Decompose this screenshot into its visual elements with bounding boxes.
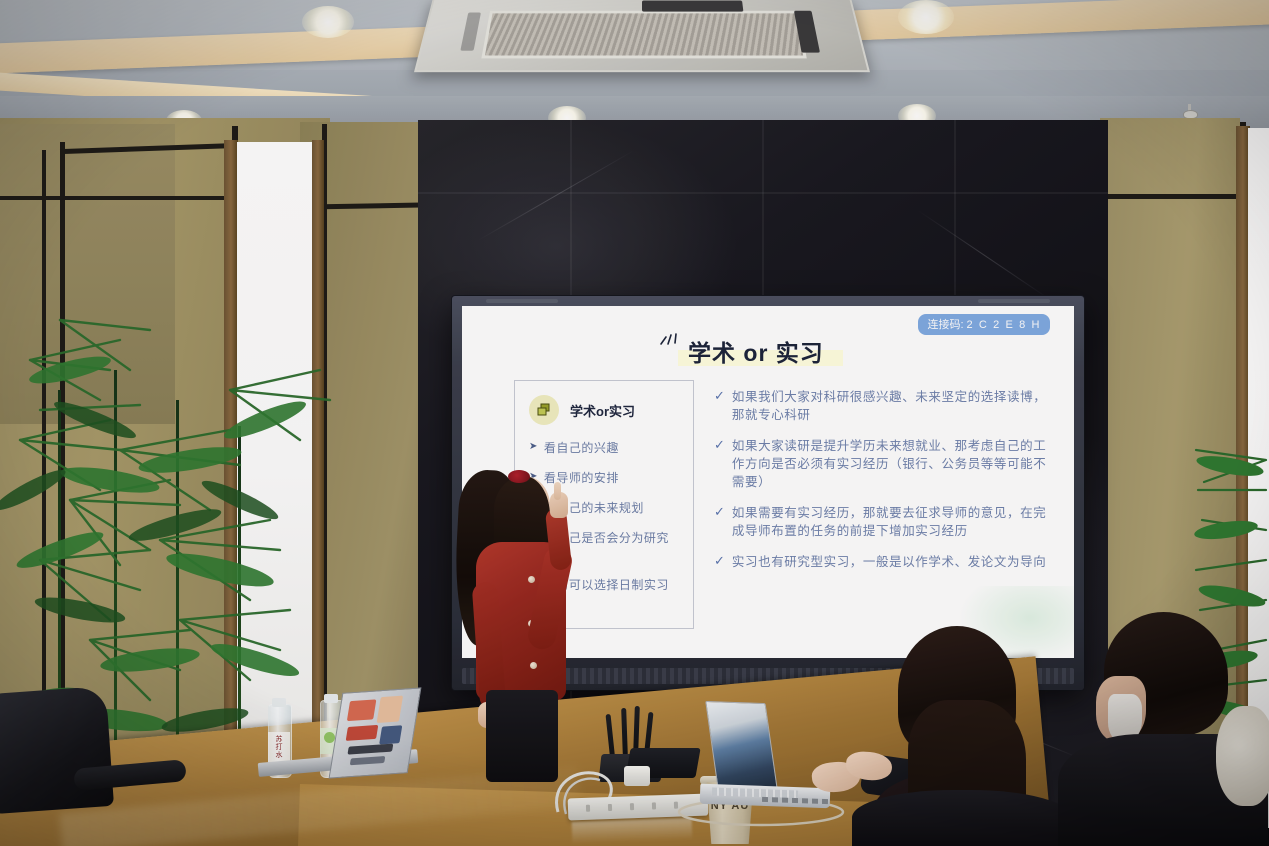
left-card-header: 学术or实习 — [529, 395, 635, 425]
bottle-cap — [272, 698, 286, 707]
power-strip-slot — [586, 805, 590, 812]
bullet-text: 实习也有研究型实习，一般是以作学术、发论文为导向 — [732, 553, 1046, 571]
cardigan-button — [528, 576, 535, 583]
bullet-text: 如果需要有实习经历，那就要去征求导师的意见，在完成导师布置的任务的前提下增加实习… — [732, 504, 1054, 540]
connection-code-label: 连接码: — [927, 319, 963, 331]
laptop-sticker — [347, 744, 393, 755]
ceiling — [0, 0, 1269, 132]
power-strip-slot — [608, 804, 612, 811]
connection-code-badge: 连接码:2 C 2 E 8 H — [918, 314, 1050, 335]
laptop-sticker — [379, 725, 402, 744]
presenter — [452, 462, 588, 782]
laptop-sticker — [347, 699, 377, 721]
ac-grille — [481, 11, 806, 59]
power-strip-slot — [630, 803, 634, 810]
check-bullet-icon: ✓ — [714, 504, 725, 540]
presenter-index-finger — [554, 482, 561, 500]
check-bullet-icon: ✓ — [714, 437, 725, 491]
fur-trim — [1216, 706, 1269, 806]
title-decoration-icon — [658, 328, 684, 348]
list-item: ➤ 看自己的兴趣 — [529, 439, 681, 456]
left-card-item-text: 看自己的兴趣 — [544, 439, 619, 456]
ac-vane — [642, 0, 743, 11]
laptop-sticker — [377, 696, 403, 723]
display-bezel-tab — [978, 299, 1050, 303]
list-item: ✓ 如果我们大家对科研很感兴趣、未来坚定的选择读博，那就专心科研 — [714, 388, 1054, 424]
slide-bullet-list: ✓ 如果我们大家对科研很感兴趣、未来坚定的选择读博，那就专心科研 ✓ 如果大家读… — [714, 388, 1054, 584]
bottle-label-text: 苏打水 — [269, 736, 289, 760]
list-item: ✓ 如果需要有实习经历，那就要去征求导师的意见，在完成导师布置的任务的前提下增加… — [714, 504, 1054, 540]
layers-icon — [529, 395, 559, 425]
bullet-text: 如果大家读研是提升学历未来想就业、那考虑自己的工作方向是否必须有实习经历（银行、… — [732, 437, 1054, 491]
wall-frame-line — [0, 196, 238, 200]
power-strip-reflection — [572, 818, 693, 844]
left-card-title: 学术or实习 — [570, 401, 635, 420]
list-item: ✓ 如果大家读研是提升学历未来想就业、那考虑自己的工作方向是否必须有实习经历（银… — [714, 437, 1054, 491]
slide-title: 学术 or 实习 — [688, 334, 824, 368]
display-bezel-tab — [486, 299, 558, 303]
check-bullet-icon: ✓ — [714, 388, 725, 424]
check-bullet-icon: ✓ — [714, 553, 725, 571]
hair-tie-icon — [508, 470, 530, 483]
connection-code-value: 2 C 2 E 8 H — [967, 319, 1041, 331]
ac-vane — [460, 12, 481, 50]
power-strip-slot — [652, 802, 656, 809]
marble-vein — [478, 150, 634, 241]
conference-room-photo: 连接码:2 C 2 E 8 H 学术 or 实习 — [0, 0, 1269, 846]
arrow-bullet-icon: ➤ — [529, 439, 538, 456]
air-conditioner-unit — [414, 0, 870, 72]
wall-frame-line — [1100, 194, 1246, 199]
cardigan-button — [530, 662, 537, 669]
laptop-with-stickers[interactable] — [329, 687, 422, 778]
laptop-sticker — [346, 725, 379, 741]
list-item: ✓ 实习也有研究型实习，一般是以作学术、发论文为导向 — [714, 553, 1054, 571]
office-chair[interactable] — [0, 686, 114, 814]
audience-member-center-shoulder — [852, 790, 1072, 846]
laptop-sticker — [350, 756, 386, 765]
layers-icon-glyph — [536, 402, 552, 418]
marble-vein — [918, 210, 1051, 300]
downlight-icon — [302, 6, 354, 38]
presenter-trousers — [486, 690, 558, 782]
bottle-label-accent — [324, 732, 335, 743]
downlight-icon — [898, 0, 954, 34]
bullet-text: 如果我们大家对科研很感兴趣、未来坚定的选择读博，那就专心科研 — [732, 388, 1054, 424]
bottle-cap — [324, 694, 338, 703]
